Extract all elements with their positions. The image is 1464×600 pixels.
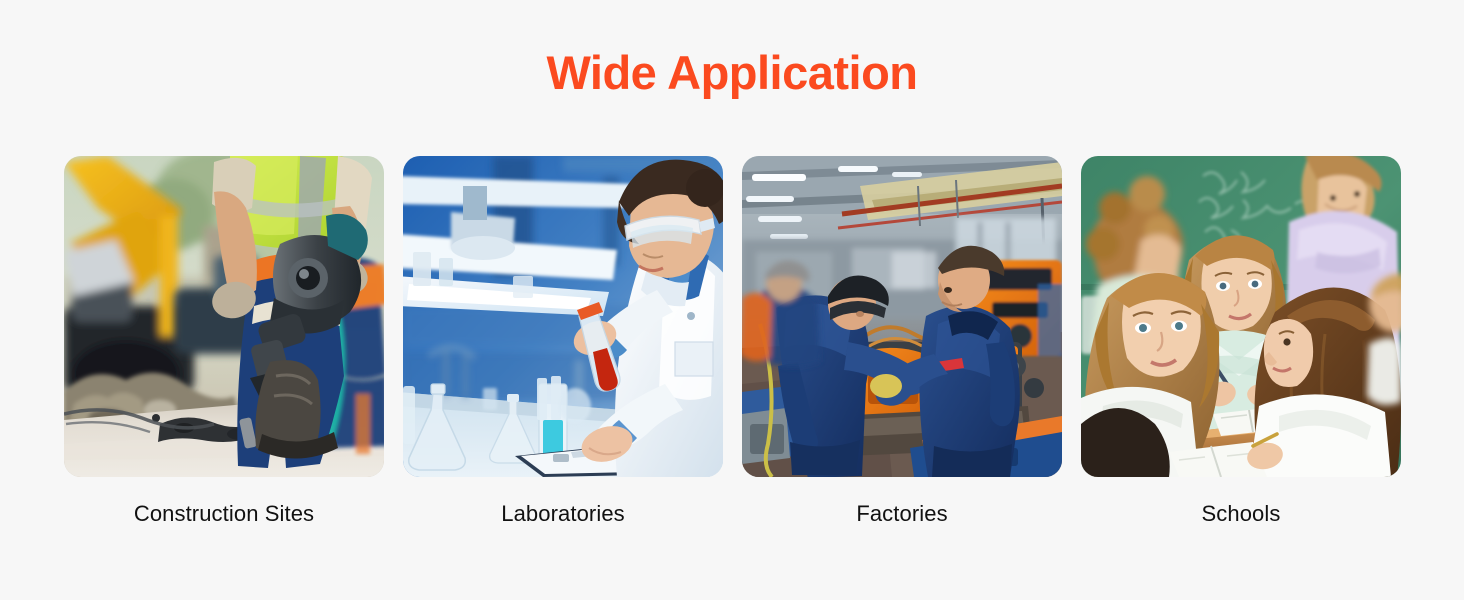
- application-card-laboratories[interactable]: Laboratories: [403, 156, 723, 527]
- application-card-grid: Construction Sites: [64, 156, 1401, 527]
- application-card-schools[interactable]: Schools: [1081, 156, 1401, 527]
- card-caption: Laboratories: [403, 501, 723, 527]
- card-caption: Construction Sites: [64, 501, 384, 527]
- wide-application-section: Wide Application: [0, 0, 1464, 600]
- factory-photo[interactable]: [742, 156, 1062, 477]
- card-caption: Factories: [742, 501, 1062, 527]
- application-card-factories[interactable]: Factories: [742, 156, 1062, 527]
- classroom-photo[interactable]: [1081, 156, 1401, 477]
- laboratory-photo[interactable]: [403, 156, 723, 477]
- card-caption: Schools: [1081, 501, 1401, 527]
- application-card-construction-sites[interactable]: Construction Sites: [64, 156, 384, 527]
- page-title: Wide Application: [0, 48, 1464, 99]
- construction-site-photo[interactable]: [64, 156, 384, 477]
